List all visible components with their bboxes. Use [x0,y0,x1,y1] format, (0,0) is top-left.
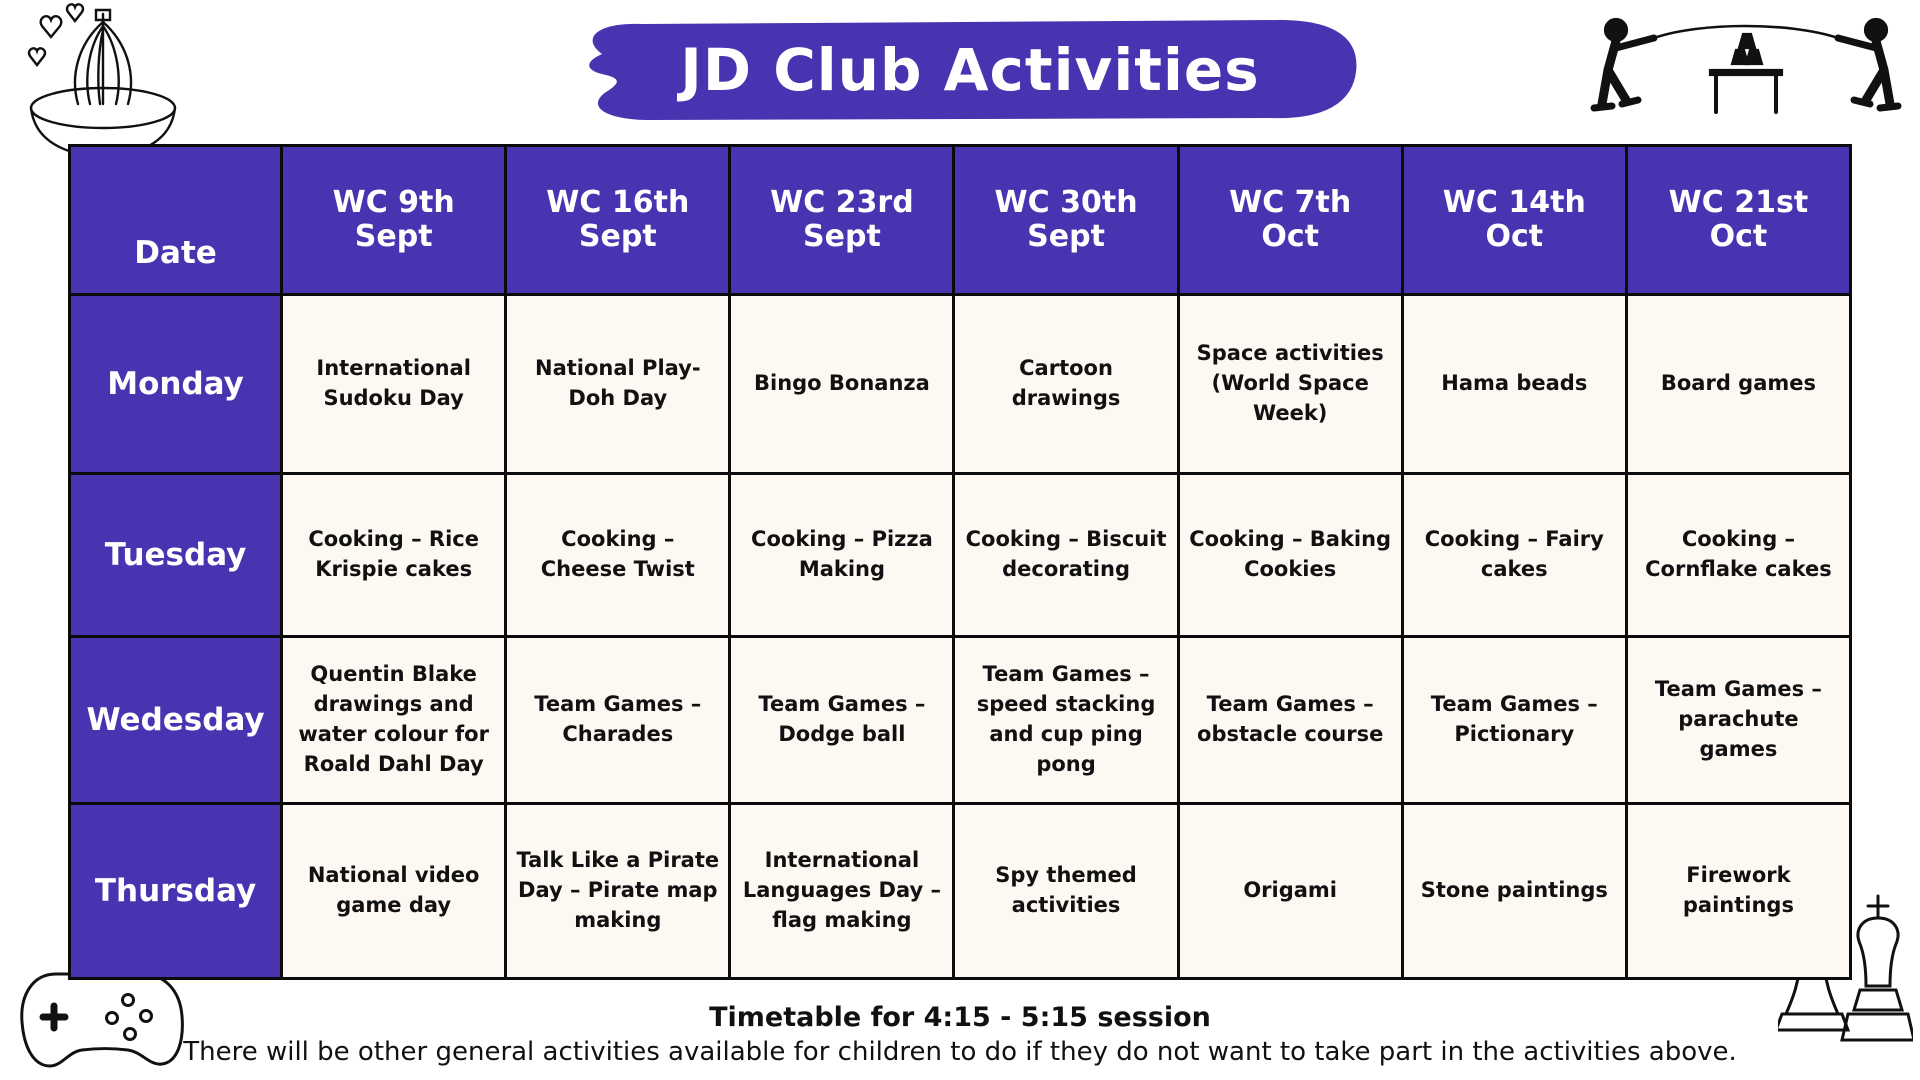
header-date: Date [70,146,282,295]
cell-wednesday-week5: Team Games – obstacle course [1178,637,1402,804]
footer-note: There will be other general activities a… [0,1037,1920,1068]
table-row-monday: Monday International Sudoku Day National… [70,295,1851,474]
cell-tuesday-week4: Cooking – Biscuit decorating [954,474,1178,637]
header-week-3-line2: Sept [803,219,881,254]
header-week-1: WC 9th Sept [282,146,506,295]
day-label-wednesday: Wedesday [70,637,282,804]
day-label-monday: Monday [70,295,282,474]
table-row-tuesday: Tuesday Cooking – Rice Krispie cakes Coo… [70,474,1851,637]
cell-thursday-week6: Stone paintings [1402,804,1626,979]
cell-thursday-week7: Firework paintings [1626,804,1850,979]
header-week-5: WC 7th Oct [1178,146,1402,295]
header-week-2-line1: WC 16th [546,185,689,220]
header-week-6-line1: WC 14th [1443,185,1586,220]
cell-wednesday-week1: Quentin Blake drawings and water colour … [282,637,506,804]
cell-thursday-week1: National video game day [282,804,506,979]
header-week-7-line1: WC 21st [1669,185,1809,220]
cell-monday-week1: International Sudoku Day [282,295,506,474]
cell-tuesday-week7: Cooking – Cornflake cakes [1626,474,1850,637]
header-week-4-line1: WC 30th [995,185,1138,220]
table-header: Date WC 9th Sept WC 16th Sept WC 23rd Se… [70,146,1851,295]
activities-timetable: Date WC 9th Sept WC 16th Sept WC 23rd Se… [68,144,1852,980]
cell-tuesday-week6: Cooking – Fairy cakes [1402,474,1626,637]
cell-wednesday-week7: Team Games – parachute games [1626,637,1850,804]
cell-wednesday-week2: Team Games – Charades [506,637,730,804]
cell-monday-week7: Board games [1626,295,1850,474]
header-week-1-line1: WC 9th [333,185,455,220]
day-label-tuesday: Tuesday [70,474,282,637]
table-body: Monday International Sudoku Day National… [70,295,1851,979]
footer-session-time: Timetable for 4:15 - 5:15 session [0,1002,1920,1033]
timetable-container: Date WC 9th Sept WC 16th Sept WC 23rd Se… [68,144,1852,980]
footer: Timetable for 4:15 - 5:15 session There … [0,1002,1920,1068]
header-week-2-line2: Sept [579,219,657,254]
header-week-7: WC 21st Oct [1626,146,1850,295]
header-week-5-line2: Oct [1261,219,1319,254]
tug-of-war-icon [1580,8,1910,132]
header-week-6-line2: Oct [1485,219,1543,254]
table-row-thursday: Thursday National video game day Talk Li… [70,804,1851,979]
header-week-2: WC 16th Sept [506,146,730,295]
cell-monday-week6: Hama beads [1402,295,1626,474]
cell-monday-week4: Cartoon drawings [954,295,1178,474]
cell-wednesday-week3: Team Games – Dodge ball [730,637,954,804]
cell-tuesday-week3: Cooking – Pizza Making [730,474,954,637]
whisk-bowl-icon [8,0,198,164]
cell-thursday-week3: International Languages Day – flag makin… [730,804,954,979]
header-week-1-line2: Sept [355,219,433,254]
cell-monday-week5: Space activities (World Space Week) [1178,295,1402,474]
cell-thursday-week2: Talk Like a Pirate Day – Pirate map maki… [506,804,730,979]
page-title: JD Club Activities [580,14,1360,126]
header-week-4: WC 30th Sept [954,146,1178,295]
header-week-5-line1: WC 7th [1229,185,1351,220]
title-banner: JD Club Activities [580,14,1360,126]
cell-tuesday-week2: Cooking – Cheese Twist [506,474,730,637]
cell-wednesday-week4: Team Games – speed stacking and cup ping… [954,637,1178,804]
cell-monday-week3: Bingo Bonanza [730,295,954,474]
cell-thursday-week5: Origami [1178,804,1402,979]
cell-tuesday-week5: Cooking – Baking Cookies [1178,474,1402,637]
day-label-thursday: Thursday [70,804,282,979]
header-row: Date WC 9th Sept WC 16th Sept WC 23rd Se… [70,146,1851,295]
cell-wednesday-week6: Team Games – Pictionary [1402,637,1626,804]
header-week-4-line2: Sept [1027,219,1105,254]
header-week-3: WC 23rd Sept [730,146,954,295]
cell-tuesday-week1: Cooking – Rice Krispie cakes [282,474,506,637]
header-week-3-line1: WC 23rd [770,185,914,220]
header-week-6: WC 14th Oct [1402,146,1626,295]
table-row-wednesday: Wedesday Quentin Blake drawings and wate… [70,637,1851,804]
cell-monday-week2: National Play-Doh Day [506,295,730,474]
header-week-7-line2: Oct [1710,219,1768,254]
cell-thursday-week4: Spy themed activities [954,804,1178,979]
poster-page: JD Club Activities Date WC 9th Sept WC 1… [0,0,1920,1080]
